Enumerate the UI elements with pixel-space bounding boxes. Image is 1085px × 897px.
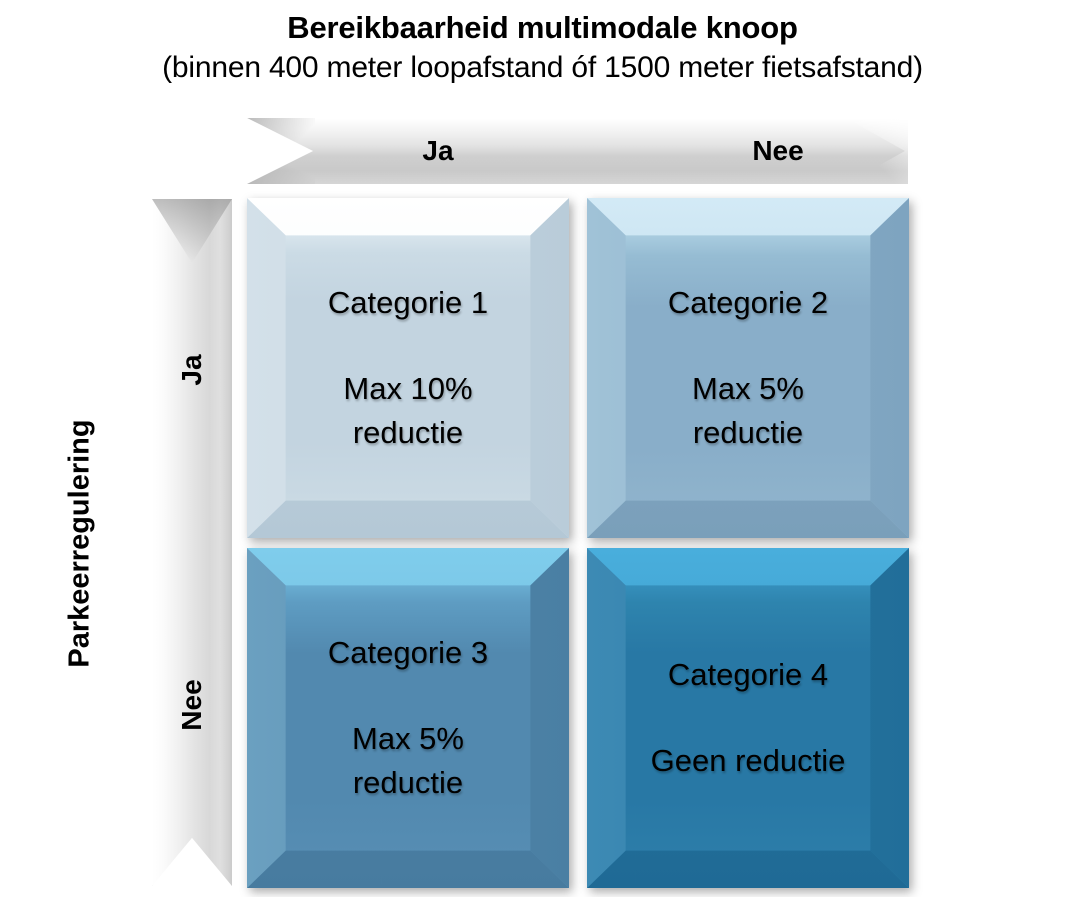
- cell-text: Categorie 4 Geen reductie: [587, 548, 909, 888]
- matrix-cell-categorie-2: Categorie 2 Max 5% reductie: [587, 198, 909, 538]
- matrix-cell-categorie-4: Categorie 4 Geen reductie: [587, 548, 909, 888]
- cell-value-label: Geen reductie: [651, 739, 846, 783]
- cell-text: Categorie 2 Max 5% reductie: [587, 198, 909, 538]
- row-header-edge-shade: [220, 199, 232, 886]
- column-header-arrow-bar: Ja Nee: [247, 118, 908, 184]
- cell-value-label: Max 10% reductie: [343, 367, 472, 455]
- column-header-label-nee: Nee: [648, 118, 908, 184]
- cell-category-label: Categorie 4: [668, 653, 828, 697]
- row-header-label-nee: Nee: [176, 665, 208, 745]
- column-header-label-ja: Ja: [308, 118, 568, 184]
- cell-category-label: Categorie 2: [668, 281, 828, 325]
- cell-category-label: Categorie 1: [328, 281, 488, 325]
- cell-value-label: Max 5% reductie: [352, 717, 464, 805]
- page-title: Bereikbaarheid multimodale knoop: [0, 8, 1085, 48]
- title-block: Bereikbaarheid multimodale knoop (binnen…: [0, 8, 1085, 88]
- cell-text: Categorie 1 Max 10% reductie: [247, 198, 569, 538]
- cell-category-label: Categorie 3: [328, 631, 488, 675]
- row-header-label-ja: Ja: [176, 330, 208, 410]
- page-subtitle: (binnen 400 meter loopafstand óf 1500 me…: [0, 48, 1085, 88]
- row-header-arrow-bar: Ja Nee: [152, 199, 232, 886]
- matrix-cell-categorie-1: Categorie 1 Max 10% reductie: [247, 198, 569, 538]
- cell-value-label: Max 5% reductie: [692, 367, 804, 455]
- cell-text: Categorie 3 Max 5% reductie: [247, 548, 569, 888]
- chevron-left-lower-bevel-icon: [247, 151, 315, 184]
- y-axis-title: Parkeerregulering: [64, 389, 97, 699]
- matrix-cell-categorie-3: Categorie 3 Max 5% reductie: [247, 548, 569, 888]
